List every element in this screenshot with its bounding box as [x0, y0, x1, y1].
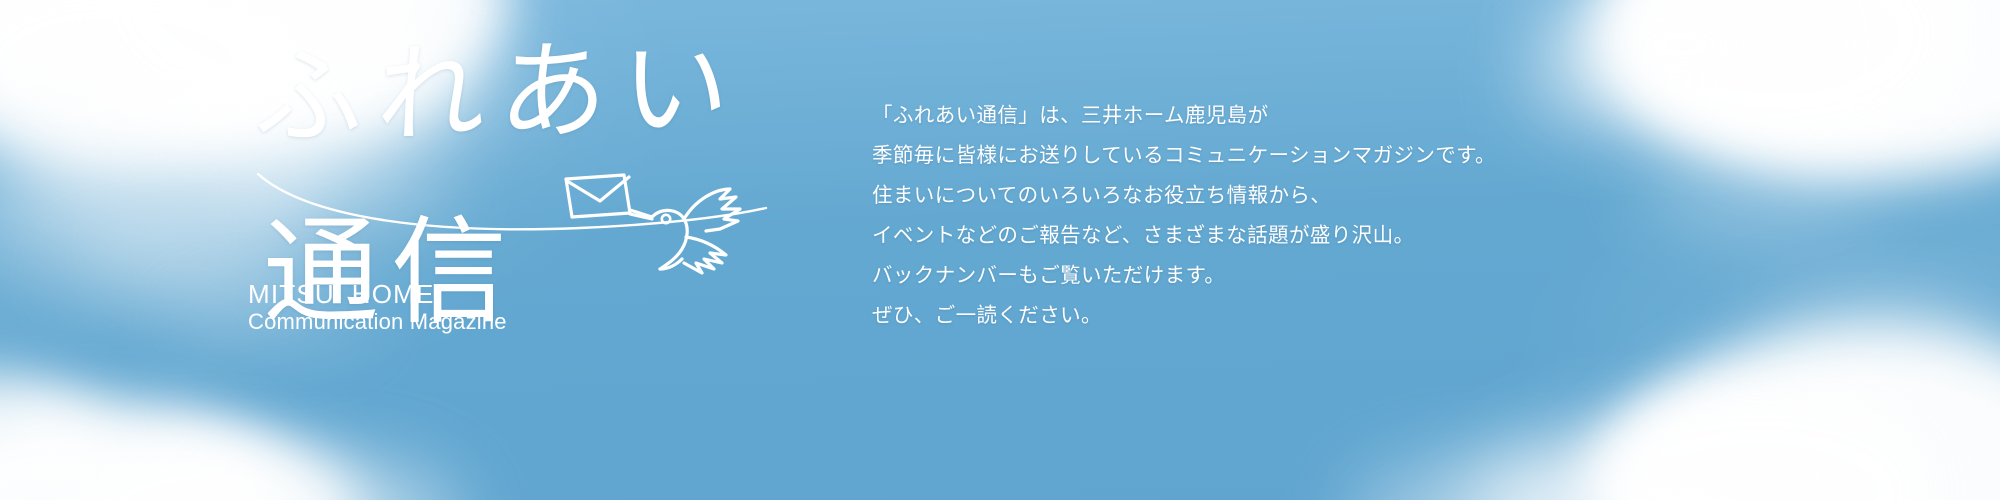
description-line: バックナンバーもご覧いただけます。 [872, 256, 1902, 296]
description-text: 「ふれあい通信」は、三井ホーム鹿児島が 季節毎に皆様にお送りしているコミュニケー… [872, 96, 1902, 336]
logo-title-line-1: ふれあい [253, 35, 745, 153]
description-line: 「ふれあい通信」は、三井ホーム鹿児島が [872, 96, 1902, 136]
hero-banner: ふれあい 通信 MITSUI HOME Communication [0, 0, 2000, 500]
brand-tagline: Communication Magazine [248, 309, 507, 334]
brand-name: MITSUI HOME [248, 280, 507, 309]
description-line: イベントなどのご報告など、さまざまな話題が盛り沢山。 [872, 216, 1902, 256]
description-line: 住まいについてのいろいろなお役立ち情報から、 [872, 176, 1902, 216]
description-line: ぜひ、ご一読ください。 [872, 296, 1902, 336]
description-line: 季節毎に皆様にお送りしているコミュニケーションマガジンです。 [872, 136, 1902, 176]
brand-lockup: MITSUI HOME Communication Magazine [248, 280, 507, 334]
